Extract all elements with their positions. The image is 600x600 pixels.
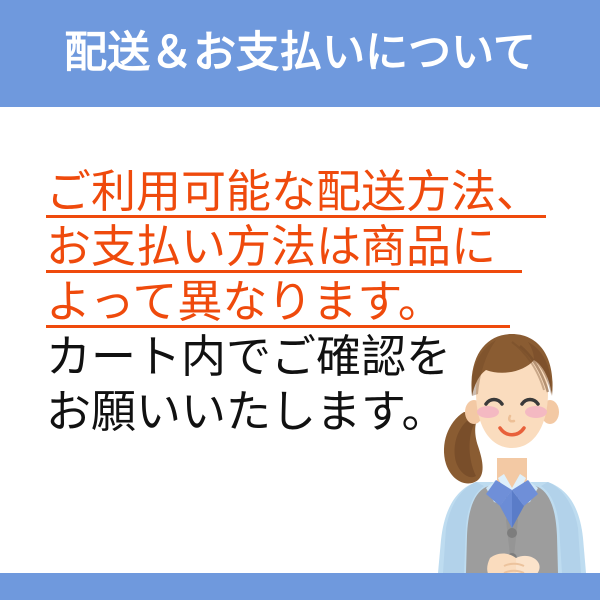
footer-bar	[0, 573, 600, 600]
page-title: 配送＆お支払いについて	[0, 0, 600, 107]
shipping-payment-banner: 配送＆お支払いについて ご利用可能な配送方法、 お支払い方法は商品に よって異な…	[0, 0, 600, 600]
smiling-businesswoman-illustration	[424, 330, 600, 573]
message-line-3: よって異なります。	[46, 276, 566, 331]
message-line-2: お支払い方法は商品に	[46, 221, 566, 276]
message-line-1: ご利用可能な配送方法、	[46, 166, 566, 221]
